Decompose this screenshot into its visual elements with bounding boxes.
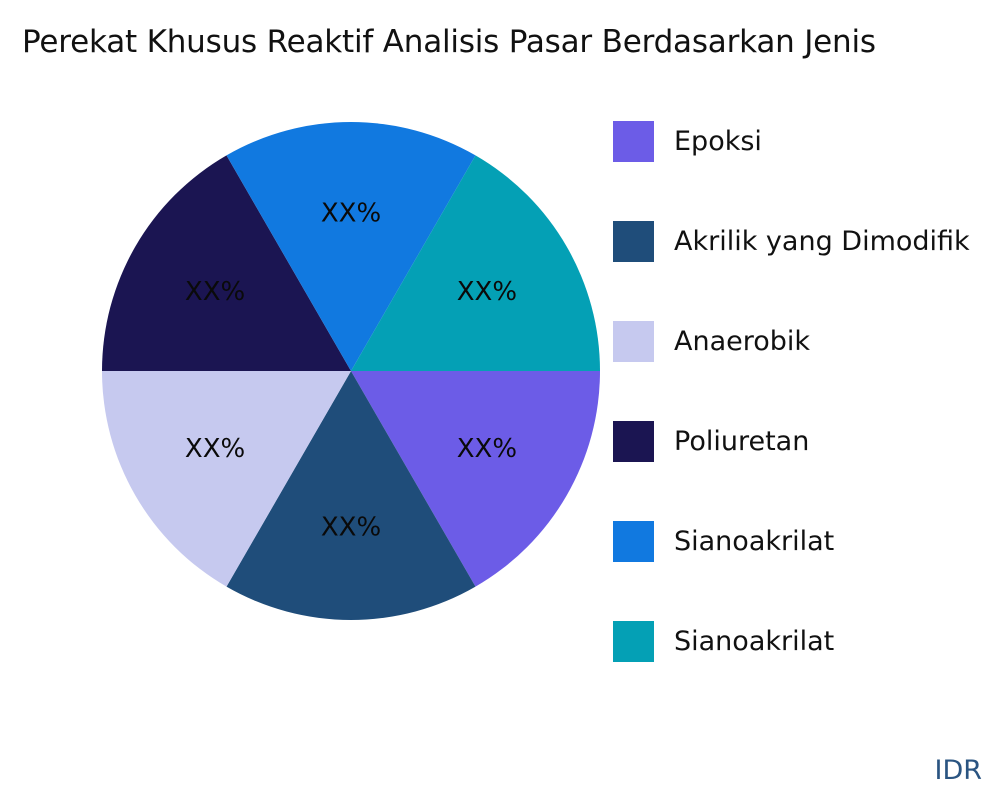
pie-slice-group bbox=[102, 122, 600, 620]
pie-slice-label: XX% bbox=[321, 512, 381, 542]
legend-item[interactable]: Sianoakrilat bbox=[613, 520, 834, 562]
legend-swatch bbox=[613, 321, 654, 362]
legend-swatch bbox=[613, 521, 654, 562]
chart-canvas: Perekat Khusus Reaktif Analisis Pasar Be… bbox=[0, 0, 1000, 800]
legend-label: Poliuretan bbox=[674, 428, 809, 455]
legend-label: Sianoakrilat bbox=[674, 528, 834, 555]
pie-chart-svg: XX%XX%XX%XX%XX%XX% bbox=[102, 122, 600, 620]
legend-label: Sianoakrilat bbox=[674, 628, 834, 655]
legend-swatch bbox=[613, 421, 654, 462]
legend-label: Anaerobik bbox=[674, 328, 810, 355]
pie-slice-label: XX% bbox=[185, 277, 245, 307]
pie-slice-label: XX% bbox=[457, 277, 517, 307]
pie-slice-label: XX% bbox=[457, 434, 517, 464]
pie-slice-label: XX% bbox=[185, 434, 245, 464]
pie-chart: XX%XX%XX%XX%XX%XX% bbox=[102, 122, 600, 620]
currency-note: IDR bbox=[934, 755, 982, 786]
legend-item[interactable]: Epoksi bbox=[613, 120, 762, 162]
legend-swatch bbox=[613, 121, 654, 162]
legend-item[interactable]: Anaerobik bbox=[613, 320, 810, 362]
legend-label: Epoksi bbox=[674, 128, 762, 155]
page-title: Perekat Khusus Reaktif Analisis Pasar Be… bbox=[22, 24, 876, 60]
legend-swatch bbox=[613, 221, 654, 262]
pie-slice-label: XX% bbox=[321, 199, 381, 229]
legend-item[interactable]: Akrilik yang Dimodifik bbox=[613, 220, 970, 262]
legend-item[interactable]: Poliuretan bbox=[613, 420, 809, 462]
legend-label: Akrilik yang Dimodifik bbox=[674, 228, 970, 255]
legend-item[interactable]: Sianoakrilat bbox=[613, 620, 834, 662]
legend-swatch bbox=[613, 621, 654, 662]
chart-legend: EpoksiAkrilik yang DimodifikAnaerobikPol… bbox=[613, 120, 1000, 680]
